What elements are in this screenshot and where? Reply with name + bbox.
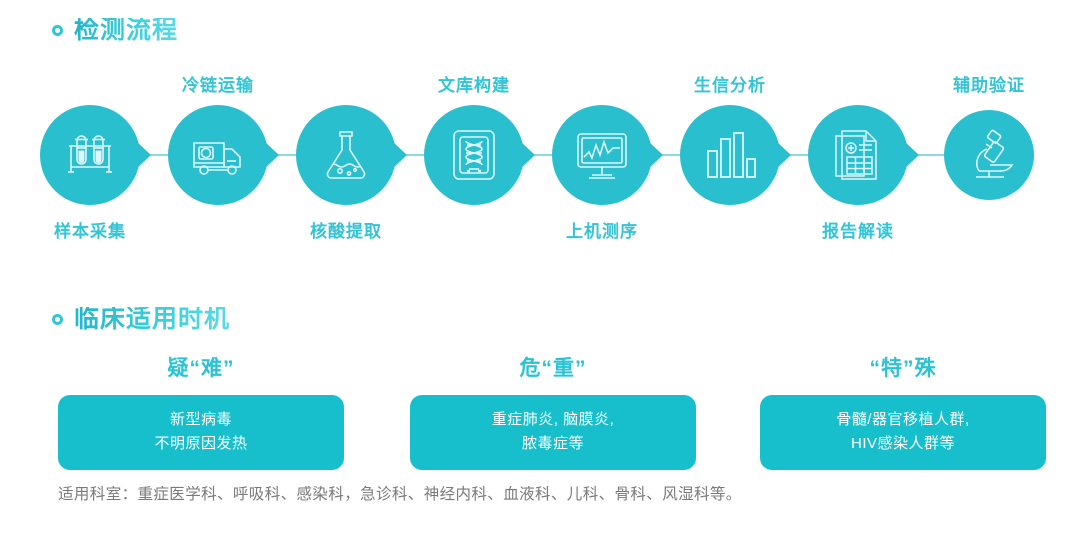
flow-step-bioinformatics[interactable]: 生信分析 bbox=[680, 105, 780, 205]
bar-chart-icon bbox=[680, 105, 780, 205]
card-title: 危“重” bbox=[410, 358, 696, 379]
process-flow: 样本采集 冷链运输 bbox=[0, 105, 1080, 205]
card-line: 重症肺炎, 脑膜炎, bbox=[410, 408, 696, 432]
flow-step-sequencing[interactable]: 上机测序 bbox=[552, 105, 652, 205]
flow-step-auxiliary-verification[interactable]: 辅助验证 bbox=[939, 105, 1039, 205]
section-heading-flow: 检测流程 bbox=[52, 18, 178, 43]
card-line: 不明原因发热 bbox=[58, 432, 344, 456]
flow-step-label: 核酸提取 bbox=[236, 223, 456, 240]
flow-step-label: 上机测序 bbox=[492, 223, 712, 240]
flow-step-label: 文库构建 bbox=[364, 77, 584, 94]
card-box: 重症肺炎, 脑膜炎, 脓毒症等 bbox=[410, 395, 696, 470]
flow-step-label: 生信分析 bbox=[620, 77, 840, 94]
applicable-departments-note: 适用科室：重症医学科、呼吸科、感染科，急诊科、神经内科、血液科、儿科、骨科、风湿… bbox=[58, 487, 742, 503]
infographic-page: 检测流程 bbox=[0, 0, 1080, 549]
card-title: “特”殊 bbox=[760, 358, 1046, 379]
cold-chain-truck-icon bbox=[168, 105, 268, 205]
flow-step-label: 报告解读 bbox=[748, 223, 968, 240]
card-box: 新型病毒 不明原因发热 bbox=[58, 395, 344, 470]
flask-icon bbox=[296, 105, 396, 205]
test-tube-rack-icon bbox=[40, 105, 140, 205]
card-line: HIV感染人群等 bbox=[760, 432, 1046, 456]
card-line: 新型病毒 bbox=[58, 408, 344, 432]
flow-step-nucleic-acid-extraction[interactable]: 核酸提取 bbox=[296, 105, 396, 205]
card-box: 骨髓/器官移植人群, HIV感染人群等 bbox=[760, 395, 1046, 470]
section-title-timing: 临床适用时机 bbox=[74, 307, 230, 332]
timing-cards: 疑“难” 新型病毒 不明原因发热 危“重” 重症肺炎, 脑膜炎, 脓毒症等 “特… bbox=[0, 358, 1080, 473]
card-line: 骨髓/器官移植人群, bbox=[760, 408, 1046, 432]
ring-bullet-icon bbox=[52, 25, 63, 36]
ring-bullet-icon bbox=[52, 314, 63, 325]
microscope-icon bbox=[939, 105, 1039, 205]
dna-library-icon bbox=[424, 105, 524, 205]
report-document-icon bbox=[808, 105, 908, 205]
section-title-flow: 检测流程 bbox=[74, 18, 178, 43]
section-heading-timing: 临床适用时机 bbox=[52, 307, 230, 332]
flow-step-label: 样本采集 bbox=[0, 223, 200, 240]
flow-step-cold-chain[interactable]: 冷链运输 bbox=[168, 105, 268, 205]
flow-step-label: 冷链运输 bbox=[108, 77, 328, 94]
flow-step-label: 辅助验证 bbox=[879, 77, 1080, 94]
timing-card-special[interactable]: “特”殊 骨髓/器官移植人群, HIV感染人群等 bbox=[760, 358, 1046, 470]
card-line: 脓毒症等 bbox=[410, 432, 696, 456]
card-title: 疑“难” bbox=[58, 358, 344, 379]
flow-step-sample-collection[interactable]: 样本采集 bbox=[40, 105, 140, 205]
sequencer-monitor-icon bbox=[552, 105, 652, 205]
timing-card-difficult[interactable]: 疑“难” 新型病毒 不明原因发热 bbox=[58, 358, 344, 470]
flow-step-library-construction[interactable]: 文库构建 bbox=[424, 105, 524, 205]
flow-step-report-interpretation[interactable]: 报告解读 bbox=[808, 105, 908, 205]
timing-card-critical[interactable]: 危“重” 重症肺炎, 脑膜炎, 脓毒症等 bbox=[410, 358, 696, 470]
